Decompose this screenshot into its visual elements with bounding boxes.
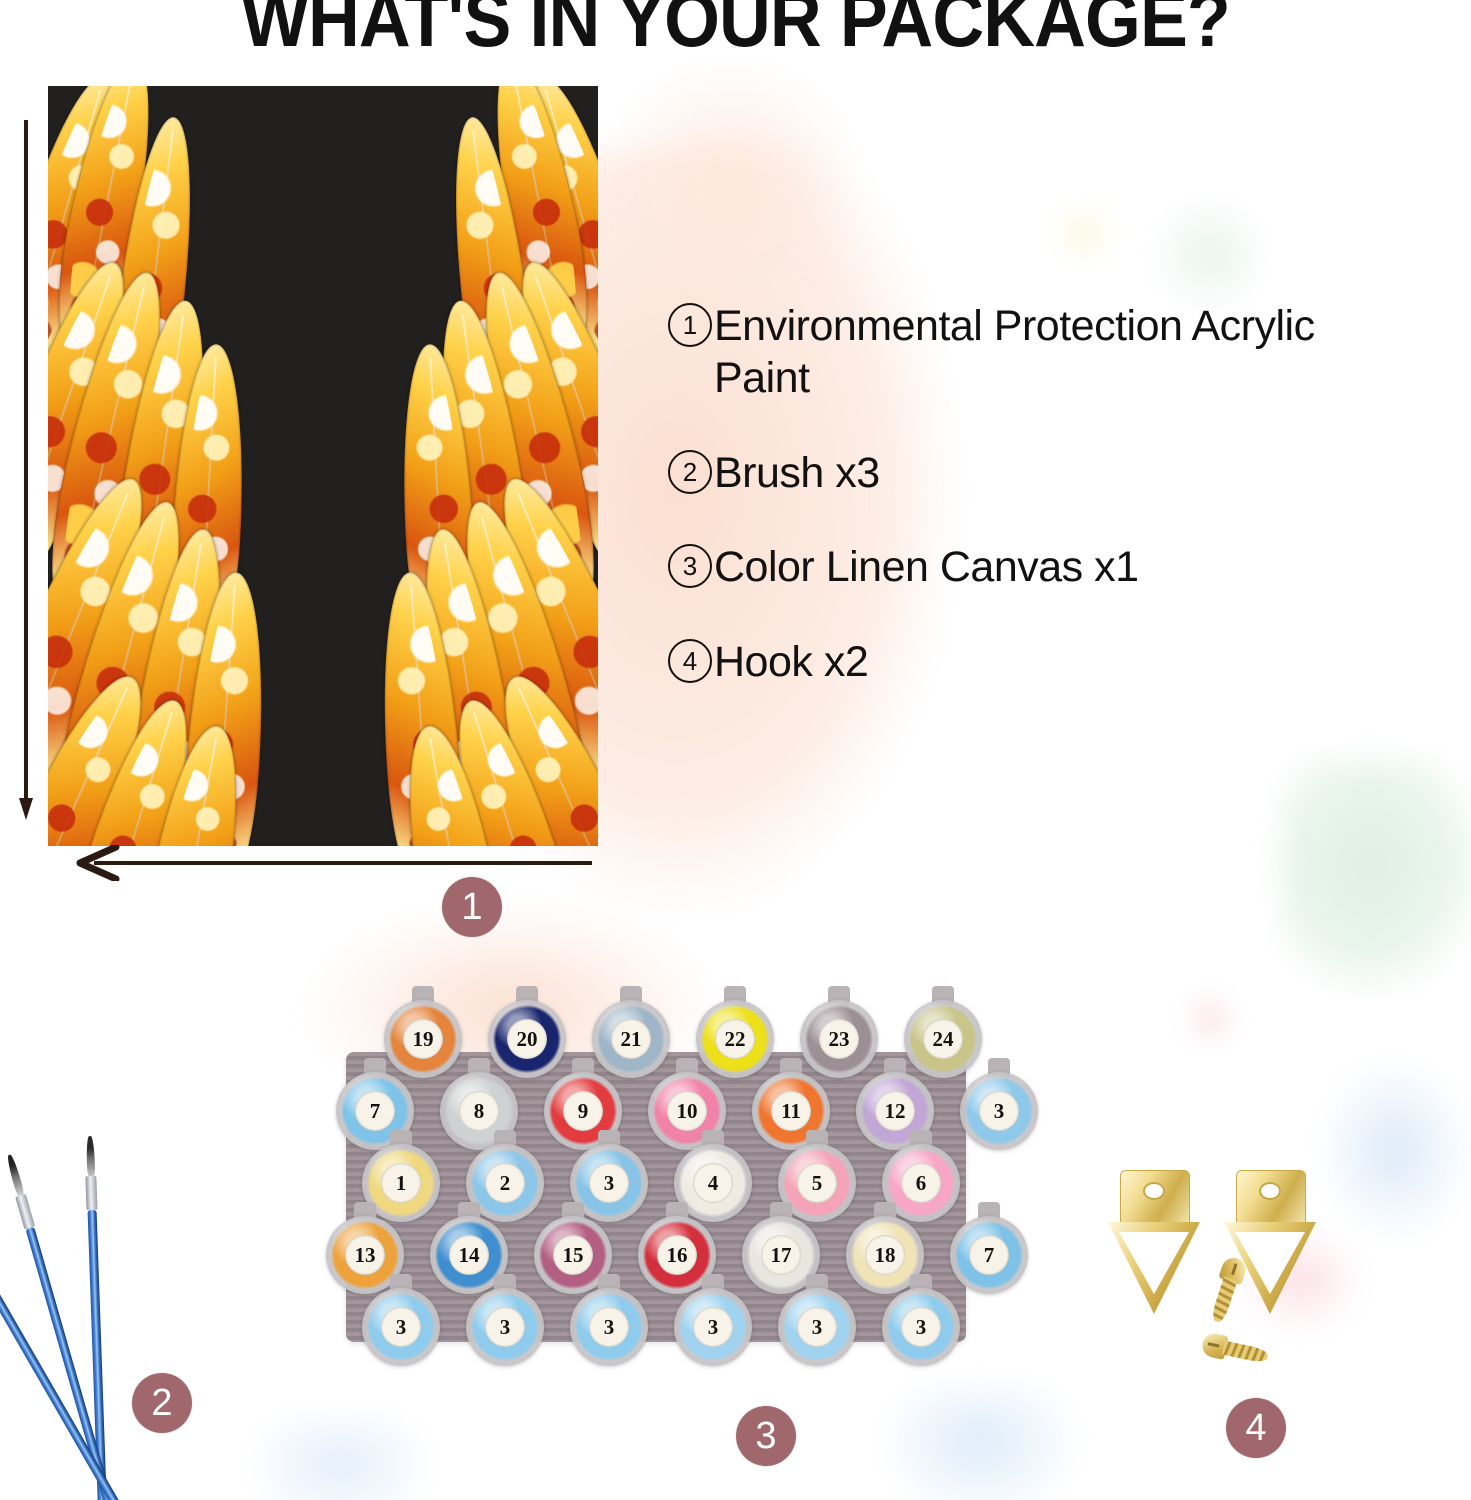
list-item-label: Color Linen Canvas x1 bbox=[714, 541, 1139, 593]
d-ring-hanger-right bbox=[1224, 1170, 1316, 1320]
hanger-screw-hole bbox=[1259, 1182, 1281, 1200]
height-dimension-arrow bbox=[18, 120, 34, 820]
page-title: WHAT'S IN YOUR PACKAGE? bbox=[59, 0, 1412, 65]
paint-pot-number: 9 bbox=[563, 1091, 603, 1131]
splatter-yellow-dot bbox=[1060, 210, 1108, 256]
width-dimension-arrow bbox=[72, 845, 592, 881]
screw-lower bbox=[1200, 1331, 1270, 1368]
hooks-product-image bbox=[1108, 1170, 1388, 1420]
infographic-stage: WHAT'S IN YOUR PACKAGE? bbox=[0, 0, 1471, 1500]
paint-pot: 3 bbox=[778, 1288, 856, 1366]
paint-pot: 24 bbox=[904, 1000, 982, 1078]
paint-pot-number: 7 bbox=[355, 1091, 395, 1131]
paint-pot: 3 bbox=[466, 1288, 544, 1366]
paint-pot-number: 14 bbox=[449, 1235, 489, 1275]
paint-pot-number: 18 bbox=[865, 1235, 905, 1275]
brushes-product-image bbox=[20, 1050, 280, 1500]
wing-right bbox=[356, 86, 598, 846]
list-item-number: 4 bbox=[668, 639, 712, 683]
paint-pot-number: 21 bbox=[611, 1019, 651, 1059]
package-contents-list: 1 Environmental Protection Acrylic Paint… bbox=[668, 300, 1368, 730]
list-item: 2 Brush x3 bbox=[668, 447, 1368, 499]
paint-pot-number: 17 bbox=[761, 1235, 801, 1275]
paint-pot-number: 3 bbox=[485, 1307, 525, 1347]
paint-pot-number: 3 bbox=[589, 1163, 629, 1203]
paint-pot: 3 bbox=[882, 1288, 960, 1366]
paint-pot: 7 bbox=[950, 1216, 1028, 1294]
paint-pot-number: 7 bbox=[969, 1235, 1009, 1275]
paint-pot-number: 13 bbox=[345, 1235, 385, 1275]
paint-pot-number: 24 bbox=[923, 1019, 963, 1059]
list-item-number: 1 bbox=[668, 303, 712, 347]
paint-pot: 3 bbox=[674, 1288, 752, 1366]
paint-pot-number: 19 bbox=[403, 1019, 443, 1059]
paint-pot-number: 2 bbox=[485, 1163, 525, 1203]
paint-pot: 3 bbox=[570, 1288, 648, 1366]
paint-pot-number: 11 bbox=[771, 1091, 811, 1131]
paint-pot-number: 16 bbox=[657, 1235, 697, 1275]
paint-pot-number: 12 bbox=[875, 1091, 915, 1131]
list-item: 4 Hook x2 bbox=[668, 636, 1368, 688]
list-item-label: Environmental Protection Acrylic Paint bbox=[714, 300, 1368, 405]
paint-pot: 22 bbox=[696, 1000, 774, 1078]
paint-pot: 23 bbox=[800, 1000, 878, 1078]
paint-pot-number: 6 bbox=[901, 1163, 941, 1203]
paint-pot-number: 8 bbox=[459, 1091, 499, 1131]
list-item-label: Brush x3 bbox=[714, 447, 880, 499]
paint-pot-number: 3 bbox=[589, 1307, 629, 1347]
list-item-number: 3 bbox=[668, 544, 712, 588]
splatter-blue-bottom bbox=[880, 1390, 1080, 1500]
paint-pot-number: 20 bbox=[507, 1019, 547, 1059]
paint-pot-number: 10 bbox=[667, 1091, 707, 1131]
list-item-label: Hook x2 bbox=[714, 636, 868, 688]
splatter-pink-dot bbox=[1190, 1000, 1230, 1038]
paint-pot-number: 1 bbox=[381, 1163, 421, 1203]
paint-pots-product-image: 1920212223247891011123123456131415161718… bbox=[318, 1000, 1058, 1400]
paint-pot-number: 15 bbox=[553, 1235, 593, 1275]
paint-pot-number: 4 bbox=[693, 1163, 733, 1203]
badge-canvas: 1 bbox=[442, 877, 502, 937]
paint-pot-number: 23 bbox=[819, 1019, 859, 1059]
paint-pot: 3 bbox=[362, 1288, 440, 1366]
paint-pot: 20 bbox=[488, 1000, 566, 1078]
splatter-green bbox=[1280, 760, 1471, 990]
paint-pot-number: 3 bbox=[381, 1307, 421, 1347]
paint-pot: 19 bbox=[384, 1000, 462, 1078]
hanger-screw-hole bbox=[1143, 1182, 1165, 1200]
paint-pot: 3 bbox=[960, 1072, 1038, 1150]
paint-pot-number: 5 bbox=[797, 1163, 837, 1203]
paint-pot-number: 3 bbox=[693, 1307, 733, 1347]
canvas-product-image bbox=[48, 86, 598, 846]
badge-paints: 3 bbox=[736, 1406, 796, 1466]
paint-pot-number: 3 bbox=[979, 1091, 1019, 1131]
paint-pot: 21 bbox=[592, 1000, 670, 1078]
splatter-green-small bbox=[1150, 200, 1270, 310]
badge-hooks: 4 bbox=[1226, 1398, 1286, 1458]
canvas-artwork bbox=[48, 86, 598, 846]
badge-brushes: 2 bbox=[132, 1373, 192, 1433]
d-ring-hanger-left bbox=[1108, 1170, 1200, 1320]
paint-pot-number: 22 bbox=[715, 1019, 755, 1059]
paint-pot-number: 3 bbox=[901, 1307, 941, 1347]
wing-left bbox=[48, 86, 290, 846]
list-item: 3 Color Linen Canvas x1 bbox=[668, 541, 1368, 593]
paint-pot-number: 3 bbox=[797, 1307, 837, 1347]
list-item-number: 2 bbox=[668, 450, 712, 494]
splatter-peach-top bbox=[600, 60, 860, 300]
list-item: 1 Environmental Protection Acrylic Paint bbox=[668, 300, 1368, 405]
